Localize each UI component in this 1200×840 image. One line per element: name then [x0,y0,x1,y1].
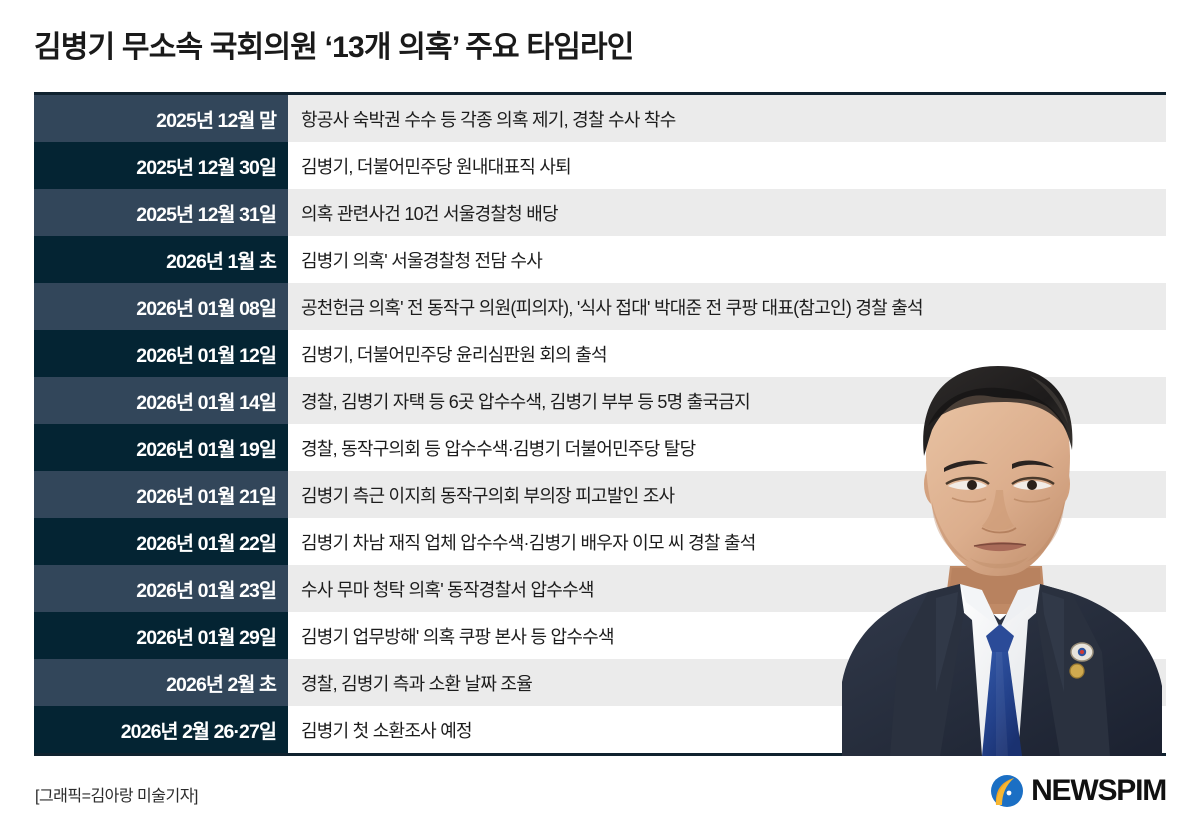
timeline-row-date: 2026년 2월 26·27일 [34,706,288,753]
timeline-table: 2025년 12월 말항공사 숙박권 수수 등 각종 의혹 제기, 경찰 수사 … [34,92,1166,756]
timeline-row: 2026년 01월 29일김병기 업무방해' 의혹 쿠팡 본사 등 압수수색 [34,612,1166,659]
timeline-row: 2026년 2월 초경찰, 김병기 측과 소환 날짜 조율 [34,659,1166,706]
timeline-row-text: 경찰, 김병기 자택 등 6곳 압수수색, 김병기 부부 등 5명 출국금지 [288,377,1166,424]
newspim-logo: NEWSPIM [990,772,1166,810]
timeline-row-date: 2026년 01월 23일 [34,565,288,612]
timeline-row-date: 2026년 01월 29일 [34,612,288,659]
timeline-row-date: 2025년 12월 31일 [34,189,288,236]
newspim-logo-text: NEWSPIM [1031,776,1166,806]
timeline-row-date: 2025년 12월 30일 [34,142,288,189]
timeline-row: 2026년 01월 21일김병기 측근 이지희 동작구의회 부의장 피고발인 조… [34,471,1166,518]
timeline-row-text: 김병기, 더불어민주당 윤리심판원 회의 출석 [288,330,1166,377]
timeline-row: 2026년 01월 22일김병기 차남 재직 업체 압수수색·김병기 배우자 이… [34,518,1166,565]
timeline-row: 2026년 01월 19일경찰, 동작구의회 등 압수수색·김병기 더불어민주당… [34,424,1166,471]
timeline-row-text: 항공사 숙박권 수수 등 각종 의혹 제기, 경찰 수사 착수 [288,95,1166,142]
timeline-row-date: 2026년 01월 21일 [34,471,288,518]
timeline-row-text: 수사 무마 청탁 의혹' 동작경찰서 압수수색 [288,565,1166,612]
timeline-row: 2026년 01월 14일경찰, 김병기 자택 등 6곳 압수수색, 김병기 부… [34,377,1166,424]
timeline-row-date: 2026년 1월 초 [34,236,288,283]
timeline-row: 2026년 01월 12일김병기, 더불어민주당 윤리심판원 회의 출석 [34,330,1166,377]
timeline-row: 2025년 12월 31일의혹 관련사건 10건 서울경찰청 배당 [34,189,1166,236]
newspim-logo-mark-icon [990,774,1024,808]
timeline-row: 2025년 12월 말항공사 숙박권 수수 등 각종 의혹 제기, 경찰 수사 … [34,95,1166,142]
timeline-row-date: 2026년 2월 초 [34,659,288,706]
timeline-row-text: 김병기 의혹' 서울경찰청 전담 수사 [288,236,1166,283]
timeline-row-text: 의혹 관련사건 10건 서울경찰청 배당 [288,189,1166,236]
timeline-row-date: 2026년 01월 08일 [34,283,288,330]
timeline-row-text: 경찰, 동작구의회 등 압수수색·김병기 더불어민주당 탈당 [288,424,1166,471]
timeline-row: 2025년 12월 30일김병기, 더불어민주당 원내대표직 사퇴 [34,142,1166,189]
timeline-row: 2026년 01월 08일공천헌금 의혹' 전 동작구 의원(피의자), '식사… [34,283,1166,330]
timeline-row-date: 2025년 12월 말 [34,95,288,142]
timeline-row-text: 공천헌금 의혹' 전 동작구 의원(피의자), '식사 접대' 박대준 전 쿠팡… [288,283,1166,330]
timeline-row: 2026년 01월 23일수사 무마 청탁 의혹' 동작경찰서 압수수색 [34,565,1166,612]
timeline-row: 2026년 1월 초김병기 의혹' 서울경찰청 전담 수사 [34,236,1166,283]
timeline-row-date: 2026년 01월 22일 [34,518,288,565]
graphic-credit: [그래픽=김아랑 미술기자] [35,782,198,806]
timeline-row-date: 2026년 01월 19일 [34,424,288,471]
timeline-row-text: 김병기 첫 소환조사 예정 [288,706,1166,753]
page-title: 김병기 무소속 국회의원 ‘13개 의혹’ 주요 타임라인 [34,22,634,66]
timeline-row-text: 김병기 업무방해' 의혹 쿠팡 본사 등 압수수색 [288,612,1166,659]
timeline-row-text: 김병기 차남 재직 업체 압수수색·김병기 배우자 이모 씨 경찰 출석 [288,518,1166,565]
timeline-row-date: 2026년 01월 12일 [34,330,288,377]
timeline-row-text: 김병기, 더불어민주당 원내대표직 사퇴 [288,142,1166,189]
timeline-row-date: 2026년 01월 14일 [34,377,288,424]
timeline-row: 2026년 2월 26·27일김병기 첫 소환조사 예정 [34,706,1166,753]
timeline-row-text: 경찰, 김병기 측과 소환 날짜 조율 [288,659,1166,706]
timeline-row-text: 김병기 측근 이지희 동작구의회 부의장 피고발인 조사 [288,471,1166,518]
infographic-page: 김병기 무소속 국회의원 ‘13개 의혹’ 주요 타임라인 2025년 12월 … [0,0,1200,840]
